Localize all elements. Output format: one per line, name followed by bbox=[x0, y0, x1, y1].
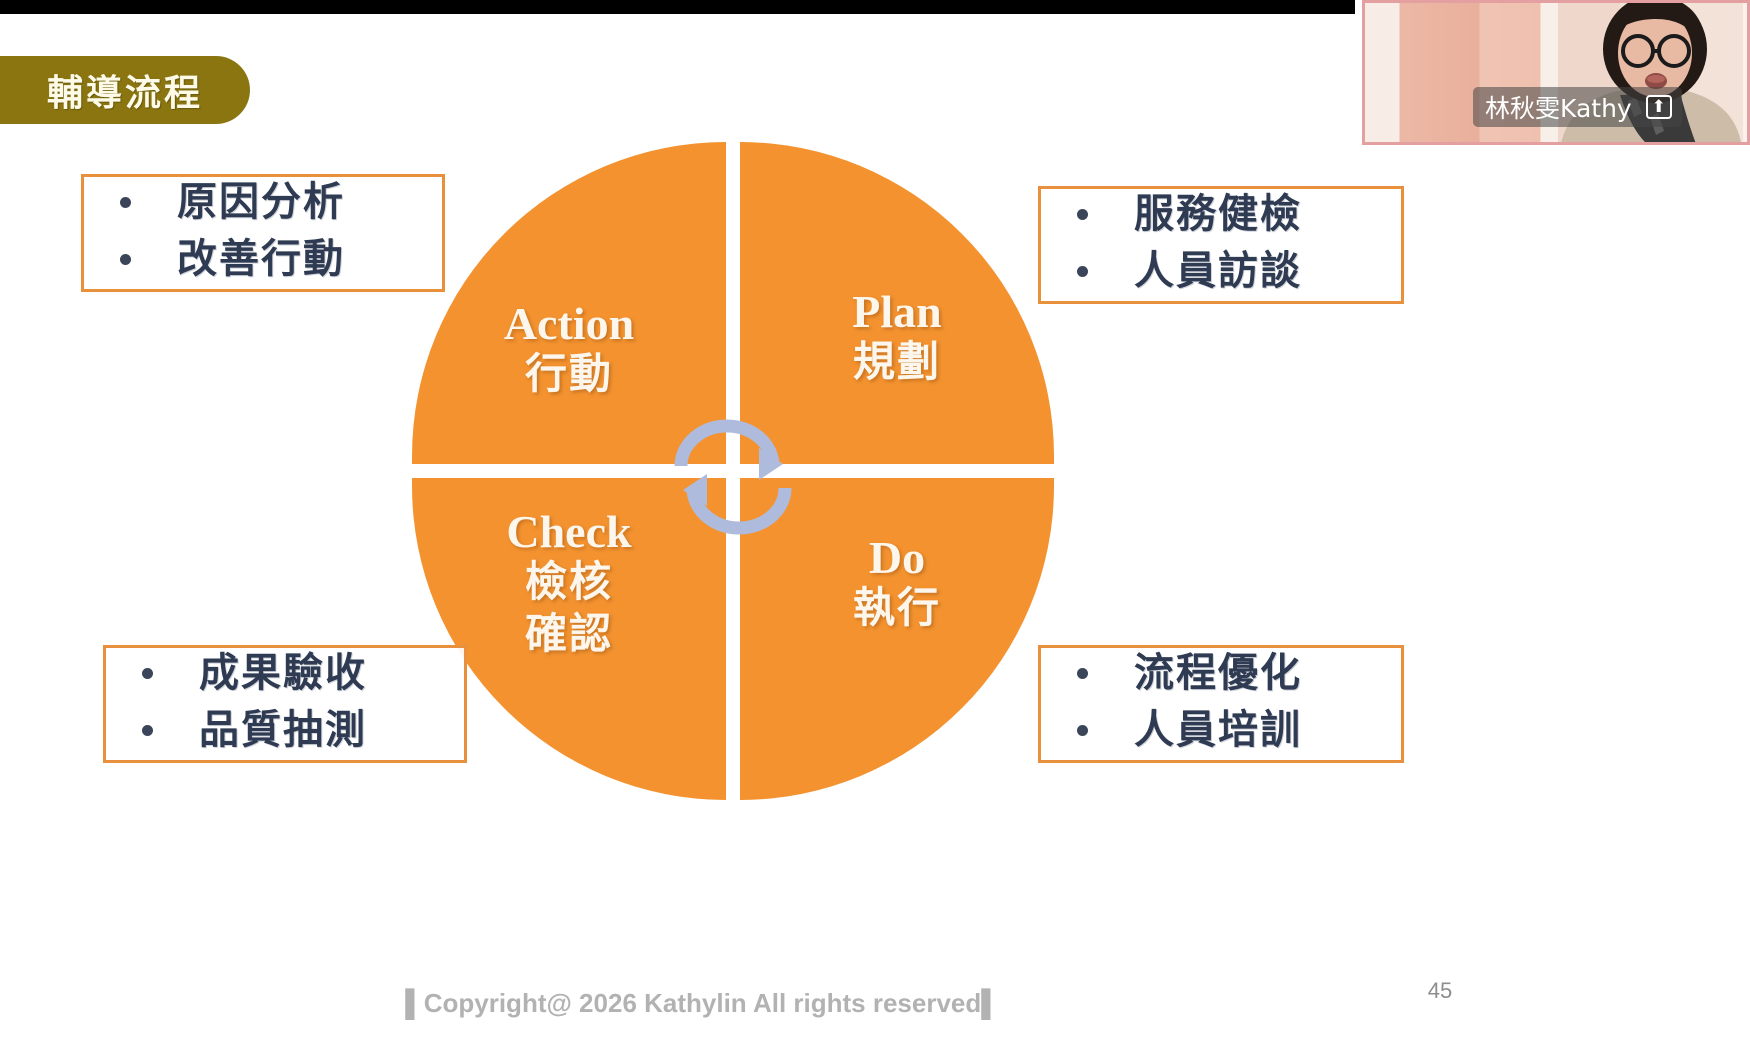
list-item: 改善行動 bbox=[110, 231, 416, 288]
callout-check: 成果驗收 品質抽測 bbox=[103, 645, 467, 763]
list-item: 成果驗收 bbox=[132, 645, 438, 702]
bullet-icon bbox=[120, 197, 131, 208]
slide-title-badge: 輔導流程 bbox=[0, 56, 250, 124]
bullet-icon bbox=[1077, 668, 1088, 679]
page-title: 輔導流程 bbox=[47, 64, 203, 116]
video-participant-tile[interactable]: 林秋雯Kathy ⬆ bbox=[1362, 0, 1750, 145]
quadrant-do-zh: 執行 bbox=[740, 582, 1054, 633]
callout-action-item-2: 改善行動 bbox=[177, 231, 345, 288]
list-item: 人員培訓 bbox=[1067, 702, 1375, 759]
participant-name-badge: 林秋雯Kathy ⬆ bbox=[1473, 87, 1682, 127]
list-item: 服務健檢 bbox=[1067, 186, 1375, 243]
callout-do-item-2: 人員培訓 bbox=[1134, 702, 1302, 759]
bullet-icon bbox=[1077, 209, 1088, 220]
footer-copyright: ▌Copyright@ 2026 Kathylin All rights res… bbox=[0, 988, 1405, 1019]
quadrant-action-label: Action 行動 bbox=[412, 300, 726, 400]
bullet-icon bbox=[120, 254, 131, 265]
bullet-icon bbox=[142, 668, 153, 679]
quadrant-plan-en: Plan bbox=[740, 288, 1054, 336]
quadrant-action-en: Action bbox=[412, 300, 726, 348]
list-item: 原因分析 bbox=[110, 174, 416, 231]
cycle-arrow-icon bbox=[667, 392, 807, 552]
share-screen-icon[interactable]: ⬆ bbox=[1646, 95, 1672, 119]
callout-do-item-1: 流程優化 bbox=[1134, 645, 1302, 702]
screenshare-letterbox-bar bbox=[0, 0, 1355, 14]
callout-action-item-1: 原因分析 bbox=[177, 174, 345, 231]
callout-action: 原因分析 改善行動 bbox=[81, 174, 445, 292]
bullet-icon bbox=[1077, 266, 1088, 277]
callout-plan: 服務健檢 人員訪談 bbox=[1038, 186, 1404, 304]
bullet-icon bbox=[142, 725, 153, 736]
quadrant-plan-label: Plan 規劃 bbox=[740, 288, 1054, 388]
list-item: 人員訪談 bbox=[1067, 243, 1375, 300]
slide-stage: 輔導流程 Action 行動 Plan 規劃 Check 檢核 確認 Do 執行 bbox=[0, 0, 1750, 1042]
page-number: 45 bbox=[1400, 978, 1480, 1004]
participant-name: 林秋雯Kathy bbox=[1485, 89, 1632, 125]
bullet-icon bbox=[1077, 725, 1088, 736]
quadrant-plan-zh: 規劃 bbox=[740, 336, 1054, 387]
callout-check-item-1: 成果驗收 bbox=[199, 645, 367, 702]
callout-plan-item-1: 服務健檢 bbox=[1134, 186, 1302, 243]
cycle-arrows bbox=[667, 392, 807, 552]
quadrant-check-zh-1: 檢核 bbox=[412, 556, 726, 607]
pdca-cycle-diagram: Action 行動 Plan 規劃 Check 檢核 確認 Do 執行 bbox=[412, 142, 1054, 800]
list-item: 品質抽測 bbox=[132, 702, 438, 759]
callout-do: 流程優化 人員培訓 bbox=[1038, 645, 1404, 763]
callout-check-item-2: 品質抽測 bbox=[199, 702, 367, 759]
share-arrow-glyph: ⬆ bbox=[1652, 99, 1666, 116]
list-item: 流程優化 bbox=[1067, 645, 1375, 702]
callout-plan-item-2: 人員訪談 bbox=[1134, 243, 1302, 300]
